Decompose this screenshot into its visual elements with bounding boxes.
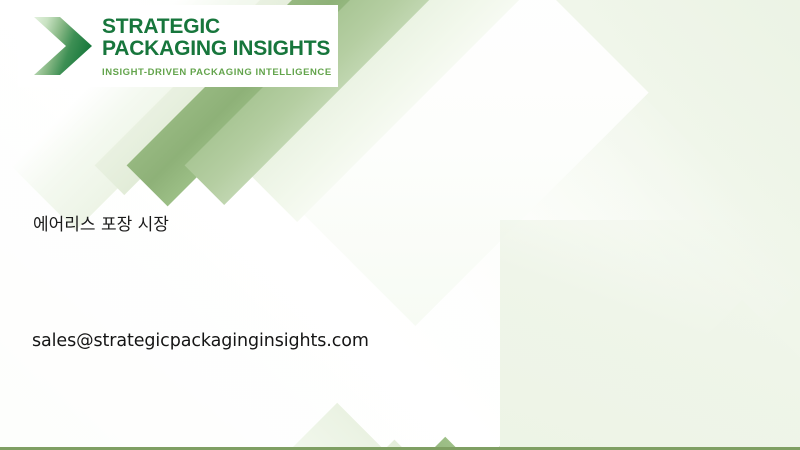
chevron-arrow-mark-icon [30,14,96,78]
title-slide: STRATEGIC PACKAGING INSIGHTS INSIGHT-DRI… [0,0,800,450]
contact-email: sales@strategicpackaginginsights.com [32,331,369,351]
brand-logo: STRATEGIC PACKAGING INSIGHTS INSIGHT-DRI… [18,5,338,87]
brand-name-line1: STRATEGIC [102,16,332,38]
decor-corner-bottom-right [500,220,800,450]
brand-name-line2: PACKAGING INSIGHTS [102,38,332,60]
brand-wordmark: STRATEGIC PACKAGING INSIGHTS INSIGHT-DRI… [102,14,332,78]
brand-tagline: INSIGHT-DRIVEN PACKAGING INTELLIGENCE [102,67,332,78]
report-title: 에어리스 포장 시장 [33,210,169,235]
